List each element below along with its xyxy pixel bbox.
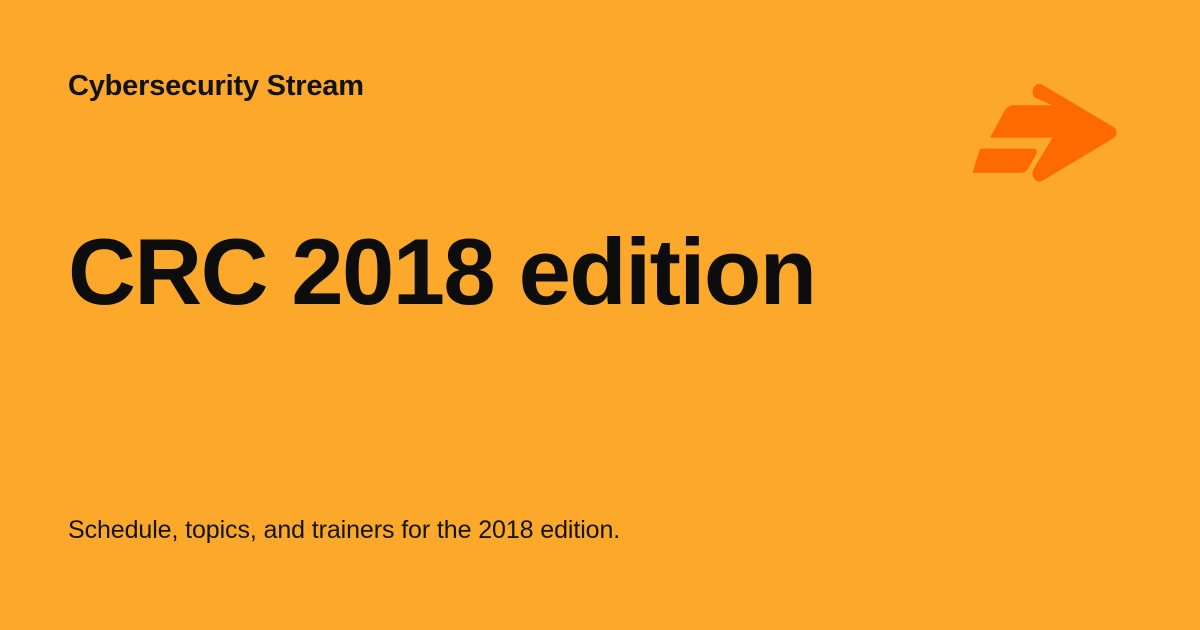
banner-card: Cybersecurity Stream CRC 2018 edition Sc… — [0, 0, 1200, 630]
subtitle-text: Schedule, topics, and trainers for the 2… — [68, 514, 620, 547]
text-content: Cybersecurity Stream CRC 2018 edition Sc… — [68, 0, 1068, 630]
kicker-label: Cybersecurity Stream — [68, 70, 364, 103]
page-title: CRC 2018 edition — [68, 223, 815, 322]
